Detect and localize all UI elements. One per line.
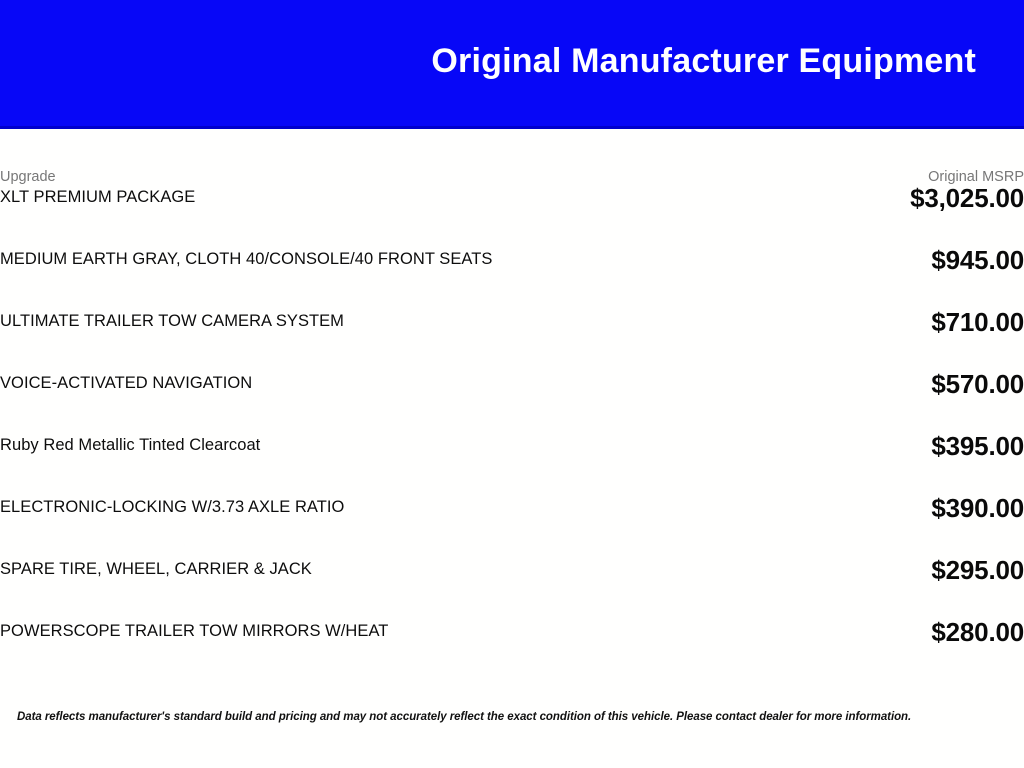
upgrade-price: $295.00 — [840, 557, 1024, 619]
upgrade-name: VOICE-ACTIVATED NAVIGATION — [0, 371, 840, 433]
upgrade-price: $945.00 — [840, 247, 1024, 309]
table-row: Ruby Red Metallic Tinted Clearcoat $395.… — [0, 433, 1024, 495]
table-body: XLT PREMIUM PACKAGE $3,025.00 MEDIUM EAR… — [0, 185, 1024, 681]
table-header: Upgrade Original MSRP — [0, 129, 1024, 185]
upgrade-price: $710.00 — [840, 309, 1024, 371]
upgrade-price: $3,025.00 — [840, 185, 1024, 247]
table-row: XLT PREMIUM PACKAGE $3,025.00 — [0, 185, 1024, 247]
upgrade-price: $395.00 — [840, 433, 1024, 495]
equipment-table-container: Upgrade Original MSRP XLT PREMIUM PACKAG… — [0, 129, 1024, 681]
upgrade-price: $280.00 — [840, 619, 1024, 681]
column-header-upgrade: Upgrade — [0, 129, 840, 185]
upgrade-name: XLT PREMIUM PACKAGE — [0, 185, 840, 247]
upgrade-name: MEDIUM EARTH GRAY, CLOTH 40/CONSOLE/40 F… — [0, 247, 840, 309]
table-row: VOICE-ACTIVATED NAVIGATION $570.00 — [0, 371, 1024, 433]
table-row: ELECTRONIC-LOCKING W/3.73 AXLE RATIO $39… — [0, 495, 1024, 557]
upgrade-price: $570.00 — [840, 371, 1024, 433]
page-title: Original Manufacturer Equipment — [431, 43, 1024, 82]
column-header-original-msrp: Original MSRP — [840, 129, 1024, 185]
upgrade-name: SPARE TIRE, WHEEL, CARRIER & JACK — [0, 557, 840, 619]
table-row: ULTIMATE TRAILER TOW CAMERA SYSTEM $710.… — [0, 309, 1024, 371]
table-row: MEDIUM EARTH GRAY, CLOTH 40/CONSOLE/40 F… — [0, 247, 1024, 309]
upgrade-name: ULTIMATE TRAILER TOW CAMERA SYSTEM — [0, 309, 840, 371]
table-header-row: Upgrade Original MSRP — [0, 129, 1024, 185]
equipment-page: Original Manufacturer Equipment Upgrade … — [0, 0, 1024, 768]
table-row: POWERSCOPE TRAILER TOW MIRRORS W/HEAT $2… — [0, 619, 1024, 681]
upgrade-price: $390.00 — [840, 495, 1024, 557]
equipment-table: Upgrade Original MSRP XLT PREMIUM PACKAG… — [0, 129, 1024, 681]
table-row: SPARE TIRE, WHEEL, CARRIER & JACK $295.0… — [0, 557, 1024, 619]
upgrade-name: ELECTRONIC-LOCKING W/3.73 AXLE RATIO — [0, 495, 840, 557]
disclaimer-text: Data reflects manufacturer's standard bu… — [17, 710, 997, 725]
upgrade-name: POWERSCOPE TRAILER TOW MIRRORS W/HEAT — [0, 619, 840, 681]
upgrade-name: Ruby Red Metallic Tinted Clearcoat — [0, 433, 840, 495]
page-header-banner: Original Manufacturer Equipment — [0, 0, 1024, 129]
